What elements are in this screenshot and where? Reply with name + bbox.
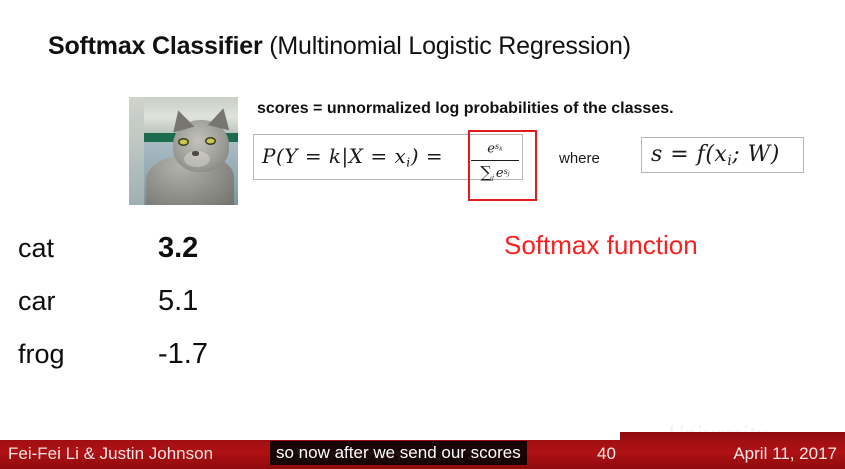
score-formula-box: s = f(xi; W): [641, 137, 804, 173]
probability-lhs-head: P(Y = k|X = x: [262, 144, 406, 168]
page-title-bold: Softmax Classifier: [48, 32, 263, 60]
page-title-regular: (Multinomial Logistic Regression): [263, 32, 631, 60]
scores-caption: scores = unnormalized log probabilities …: [257, 100, 674, 118]
subtitle-overlay: so now after we send our scores: [270, 441, 527, 465]
subtitle-text: so now after we send our scores: [276, 443, 521, 463]
probability-formula-lhs: P(Y = k|X = xi) =: [262, 144, 443, 169]
score-formula-tail: ; W): [732, 142, 780, 167]
score-formula: s = f(xi; W): [651, 142, 780, 169]
where-label: where: [559, 150, 600, 167]
softmax-function-highlight-box: [468, 130, 537, 201]
score-formula-head: s = f(x: [651, 142, 727, 167]
class-label-cat: cat: [18, 230, 54, 266]
softmax-function-annotation: Softmax function: [504, 230, 698, 261]
footer-page-number: 40: [597, 444, 616, 464]
university-red-overlay: [620, 432, 845, 442]
footer-date: April 11, 2017: [733, 444, 837, 464]
class-label-frog: frog: [18, 336, 65, 372]
footer-authors: Fei-Fei Li & Justin Johnson: [8, 444, 213, 464]
class-value-cat: 3.2: [158, 230, 198, 266]
photo-background-left: [129, 97, 144, 205]
cat-nose-shape: [192, 151, 199, 156]
cat-photo-thumbnail: [129, 97, 238, 205]
class-value-car: 5.1: [158, 283, 198, 319]
page-title: Softmax Classifier (Multinomial Logistic…: [48, 32, 631, 61]
probability-lhs-tail: ) =: [411, 144, 443, 168]
class-label-car: car: [18, 283, 56, 319]
class-value-frog: -1.7: [158, 336, 208, 372]
